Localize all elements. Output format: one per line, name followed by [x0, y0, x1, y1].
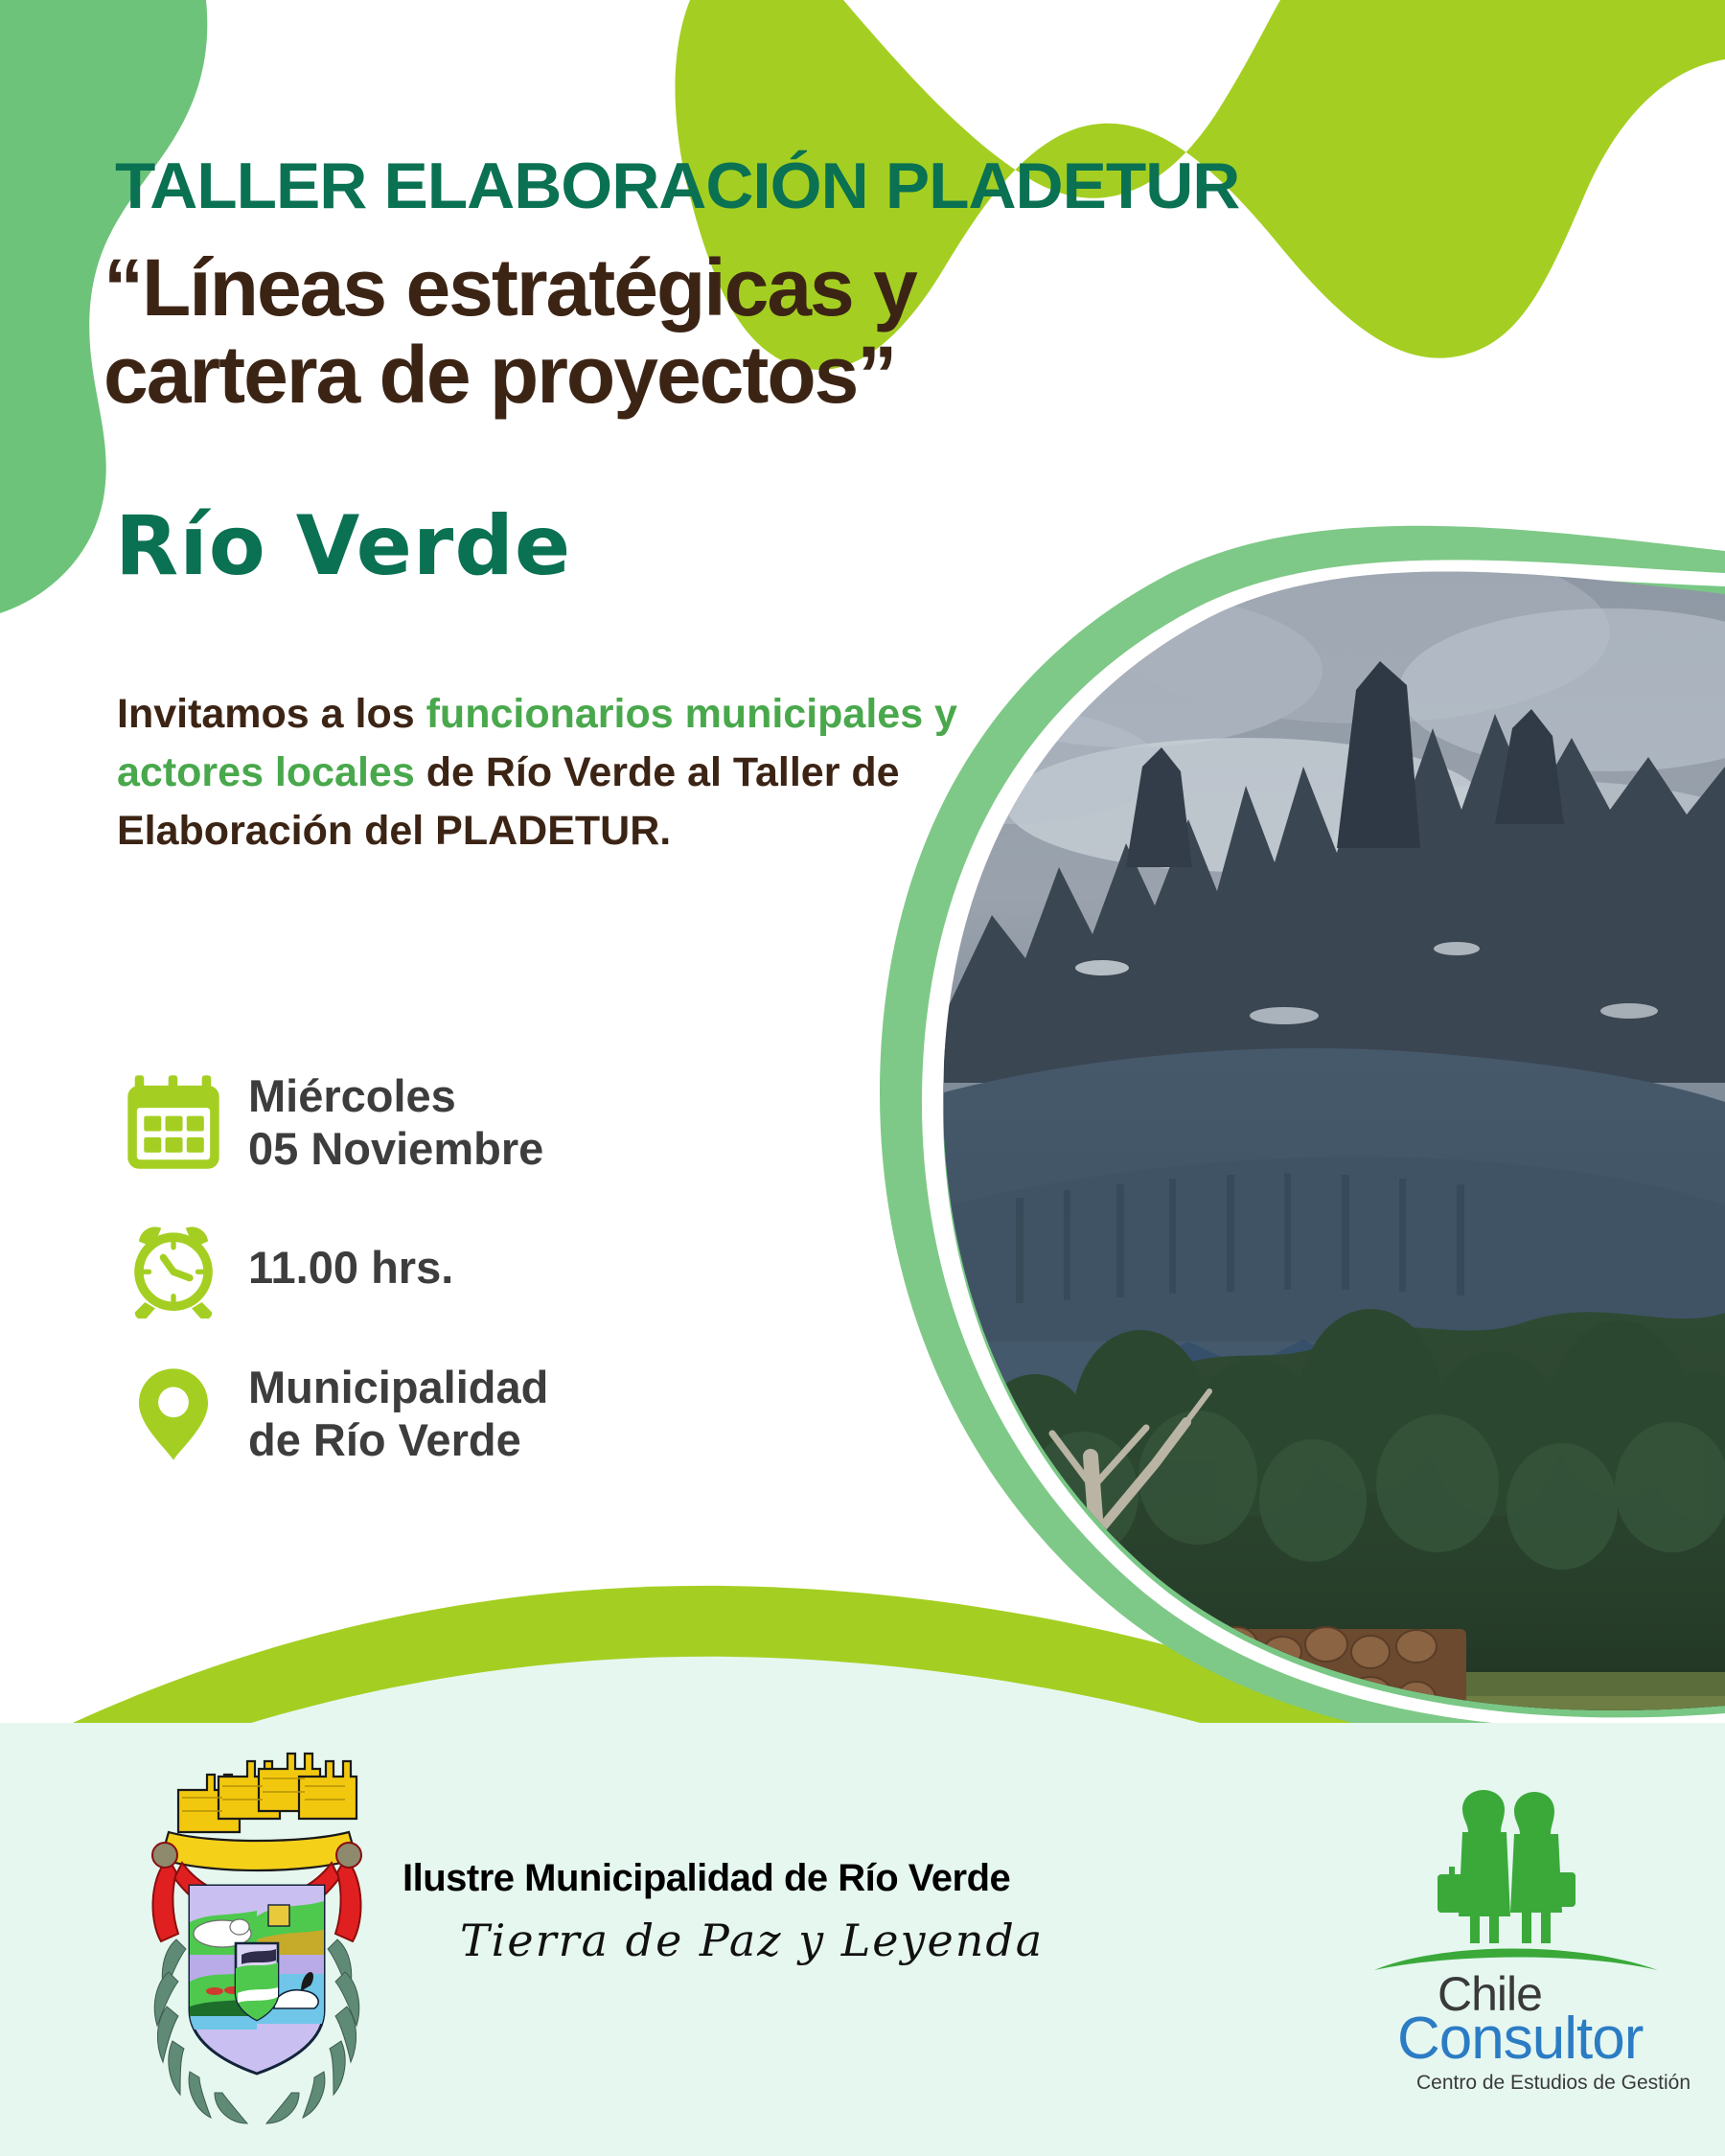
detail-row-time: 11.00 hrs. [120, 1214, 848, 1321]
date-day-month: 05 Noviembre [248, 1122, 543, 1175]
invitation-text: Invitamos a los funcionarios municipales… [117, 685, 960, 860]
date-weekday: Miércoles [248, 1069, 543, 1122]
consultant-name-bottom: Consultor [1397, 2005, 1643, 2073]
detail-text-time: 11.00 hrs. [248, 1241, 453, 1294]
locality-name: Río Verde [115, 498, 571, 594]
headline: “Líneas estratégicas y cartera de proyec… [103, 244, 1062, 418]
calendar-icon [120, 1068, 227, 1176]
coat-of-arms-rio-verde [123, 1752, 391, 2125]
headline-line-1: “Líneas estratégicas y [103, 244, 1062, 332]
event-details: Miércoles 05 Noviembre [120, 1068, 848, 1505]
municipality-name: Ilustre Municipalidad de Río Verde [402, 1857, 1010, 1900]
page-title: TALLER ELABORACIÓN PLADETUR [115, 149, 1239, 223]
municipality-slogan: Tierra de Paz y Leyenda [460, 1915, 1044, 1966]
shield [190, 1886, 324, 2074]
landscape-photo [853, 541, 1725, 1758]
alarm-clock-icon [120, 1214, 227, 1321]
people-silhouette-icon [1437, 1790, 1575, 1943]
headline-line-2: cartera de proyectos” [103, 332, 1062, 419]
detail-row-location: Municipalidad de Río Verde [120, 1360, 848, 1467]
location-line-2: de Río Verde [248, 1413, 548, 1466]
event-poster: TALLER ELABORACIÓN PLADETUR “Líneas estr… [0, 0, 1725, 2156]
mural-crown [161, 1754, 356, 1870]
detail-text-date: Miércoles 05 Noviembre [248, 1069, 543, 1176]
location-pin-icon [120, 1360, 227, 1467]
invitation-part-1: Invitamos a los [117, 691, 426, 737]
detail-row-date: Miércoles 05 Noviembre [120, 1068, 848, 1176]
detail-text-location: Municipalidad de Río Verde [248, 1361, 548, 1467]
location-line-1: Municipalidad [248, 1361, 548, 1413]
consultant-tagline: Centro de Estudios de Gestión [1416, 2072, 1690, 2095]
time-value: 11.00 hrs. [248, 1241, 453, 1294]
